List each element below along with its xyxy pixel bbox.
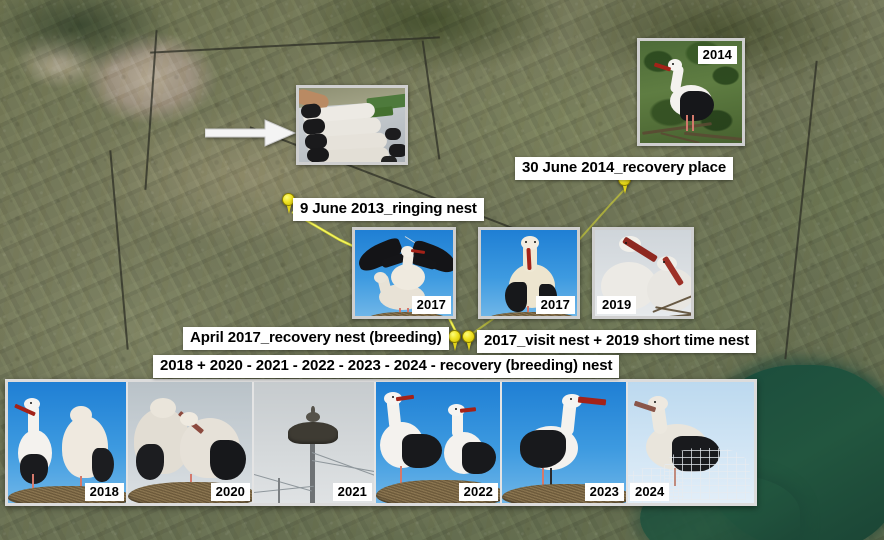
- stork-left-eye: [625, 242, 627, 244]
- strip-photo-2022[interactable]: 2022: [376, 382, 502, 503]
- photo-year-label: 2017: [412, 296, 451, 314]
- photo-year-label: 2023: [585, 483, 624, 501]
- photo-year-label: 2020: [211, 483, 250, 501]
- stork-right-beak: [460, 407, 476, 413]
- stork-right-eye: [663, 261, 665, 263]
- map-figure: 2014 2017: [0, 0, 884, 540]
- stork-leg: [674, 468, 676, 486]
- photo-2013-image: [299, 88, 405, 162]
- photo-2019-short-time[interactable]: 2019: [592, 227, 694, 319]
- photo-year-label: 2022: [459, 483, 498, 501]
- stork-left-eye: [30, 402, 32, 404]
- pin-2017-recovery-nest[interactable]: [447, 330, 462, 351]
- photo-2017-mating[interactable]: 2017: [352, 227, 456, 319]
- photo-year-label: 2017: [536, 296, 575, 314]
- stork-left-head: [150, 398, 176, 418]
- small-pole: [278, 478, 280, 503]
- stork-leg: [692, 115, 694, 131]
- stork-eye: [654, 401, 656, 403]
- stork-left-wing: [20, 454, 48, 484]
- photo-year-label: 2014: [698, 46, 737, 64]
- stork-right-wing: [462, 442, 496, 474]
- stork-left-leg: [400, 466, 402, 484]
- stork-left-wing: [402, 434, 442, 468]
- stork-right-wing: [92, 448, 114, 482]
- pin-head: [462, 330, 475, 343]
- stork-neck: [311, 406, 315, 415]
- stork-right-head: [70, 406, 92, 424]
- photo-year-label: 2018: [85, 483, 124, 501]
- stork-right-head: [180, 412, 198, 426]
- photo-2013-ringing[interactable]: [296, 85, 408, 165]
- stork-left-wing: [136, 444, 164, 480]
- pole-nest: [288, 422, 338, 444]
- stork-eye: [570, 398, 572, 400]
- strip-photo-2021[interactable]: 2021: [254, 382, 376, 503]
- strip-photo-2020[interactable]: 2020: [128, 382, 254, 503]
- photo-2014-recovery[interactable]: 2014: [637, 38, 745, 146]
- stork-right-eye: [455, 408, 457, 410]
- stork-lower-head: [374, 272, 387, 283]
- breeding-years-photo-strip: 2018 2020: [5, 379, 757, 506]
- strip-photo-2018[interactable]: 2018: [8, 382, 128, 503]
- stork-right-wing: [210, 440, 246, 480]
- electricity-pole: [310, 440, 315, 503]
- stork-wing: [505, 282, 527, 312]
- pin-2017-visit-nest[interactable]: [461, 330, 476, 351]
- stork-left-eye: [392, 396, 394, 398]
- stork-leg: [686, 115, 688, 131]
- photo-year-label: 2024: [630, 483, 669, 501]
- photo-year-label: 2021: [333, 483, 372, 501]
- caption-breeding-years: 2018 + 2020 - 2021 - 2022 - 2023 - 2024 …: [153, 355, 619, 378]
- stork-eye: [672, 63, 674, 65]
- stork-beak: [578, 397, 606, 406]
- nest-stick: [643, 313, 691, 316]
- strip-photo-2023[interactable]: 2023: [502, 382, 628, 503]
- photo-year-label: 2019: [597, 296, 636, 314]
- white-arrow-icon: [205, 118, 297, 148]
- stork-eye: [525, 241, 527, 243]
- caption-2014-recovery: 30 June 2014_recovery place: [515, 157, 733, 180]
- caption-2013-ringing: 9 June 2013_ringing nest: [293, 198, 484, 221]
- caption-2017-recovery-nest: April 2017_recovery nest (breeding): [183, 327, 449, 350]
- photo-2017-visit[interactable]: 2017: [478, 227, 580, 319]
- stork-eye-2: [534, 241, 536, 243]
- pin-head: [448, 330, 461, 343]
- strip-photo-2024[interactable]: 2024: [628, 382, 754, 503]
- caption-2017-visit-2019-short: 2017_visit nest + 2019 short time nest: [477, 330, 756, 353]
